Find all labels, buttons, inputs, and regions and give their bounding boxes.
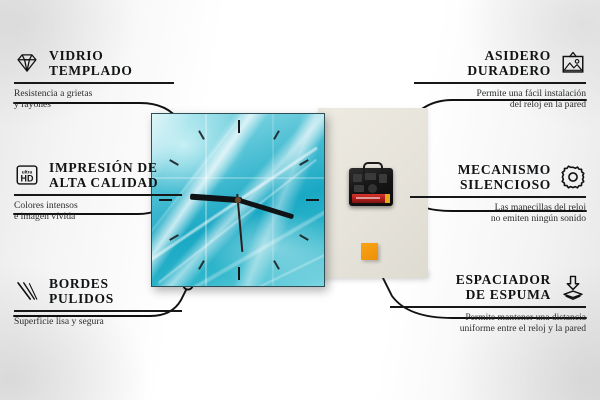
quartz-movement xyxy=(349,168,393,206)
callout-title: ALTA CALIDAD xyxy=(49,175,158,190)
callout-desc: Permite mantener una distancia xyxy=(390,312,586,323)
callout-title: DURADERO xyxy=(467,63,551,78)
callout-rule xyxy=(410,196,586,198)
callout-hd-print: ultra HD IMPRESIÓN DE ALTA CALIDAD Color… xyxy=(14,160,182,222)
callout-rule xyxy=(414,82,586,84)
movement-detail xyxy=(379,174,387,183)
hour-marker xyxy=(306,199,319,201)
infographic-canvas: VIDRIO TEMPLADO Resistencia a grietas y … xyxy=(0,0,600,400)
callout-title: TEMPLADO xyxy=(49,63,133,78)
callout-rule xyxy=(14,82,174,84)
hour-marker xyxy=(238,120,240,133)
callout-desc: uniforme entre el reloj y la pared xyxy=(390,323,586,334)
callout-desc: e imagen vívida xyxy=(14,211,182,222)
callout-desc: Las manecillas del reloj xyxy=(410,202,586,213)
callout-rule xyxy=(390,306,586,308)
hour-marker xyxy=(299,234,309,241)
hour-marker xyxy=(273,130,280,140)
foam-spacer xyxy=(361,243,378,260)
battery-label-strip xyxy=(356,197,380,199)
callout-desc: Colores intensos xyxy=(14,200,182,211)
callout-foam-spacer: ESPACIADOR DE ESPUMA Permite mantener un… xyxy=(390,272,586,334)
feather-streak xyxy=(176,206,325,287)
picture-hanger-icon xyxy=(560,50,586,76)
aa-battery xyxy=(352,194,390,203)
center-pin xyxy=(235,197,241,203)
callout-title: BORDES xyxy=(49,276,114,291)
callout-title: VIDRIO xyxy=(49,48,133,63)
callout-durable-hanger: ASIDERO DURADERO Permite una fácil insta… xyxy=(414,48,586,110)
diamond-icon xyxy=(14,50,40,76)
hour-marker xyxy=(238,267,240,280)
callout-rule xyxy=(14,194,182,196)
callout-desc: Resistencia a grietas xyxy=(14,88,174,99)
callout-title: PULIDOS xyxy=(49,291,114,306)
callout-tempered-glass: VIDRIO TEMPLADO Resistencia a grietas y … xyxy=(14,48,174,110)
callout-rule xyxy=(14,310,182,312)
callout-desc: y rayones xyxy=(14,99,174,110)
hour-marker xyxy=(273,260,280,270)
svg-text:HD: HD xyxy=(21,174,34,184)
callout-title: ESPACIADOR xyxy=(456,272,551,287)
polished-edges-icon xyxy=(14,278,40,304)
movement-detail xyxy=(353,174,362,182)
callout-desc: del reloj en la pared xyxy=(414,99,586,110)
callout-title: SILENCIOSO xyxy=(458,177,551,192)
ultra-hd-icon: ultra HD xyxy=(14,162,40,188)
callout-polished-edges: BORDES PULIDOS Superficie lisa y segura xyxy=(14,276,182,327)
battery-positive-terminal xyxy=(385,194,390,203)
movement-detail xyxy=(365,173,376,180)
movement-detail xyxy=(354,185,364,192)
callout-title: IMPRESIÓN DE xyxy=(49,160,158,175)
hour-marker xyxy=(198,130,205,140)
callout-title: ASIDERO xyxy=(467,48,551,63)
callout-silent-mechanism: MECANISMO SILENCIOSO Las manecillas del … xyxy=(410,162,586,224)
callout-desc: Superficie lisa y segura xyxy=(14,316,182,327)
movement-detail xyxy=(368,184,377,193)
callout-desc: no emiten ningún sonido xyxy=(410,213,586,224)
callout-title: MECANISMO xyxy=(458,162,551,177)
gear-icon xyxy=(560,164,586,190)
foam-spacer-icon xyxy=(560,274,586,300)
hour-marker xyxy=(198,260,205,270)
callout-title: DE ESPUMA xyxy=(456,287,551,302)
callout-desc: Permite una fácil instalación xyxy=(414,88,586,99)
